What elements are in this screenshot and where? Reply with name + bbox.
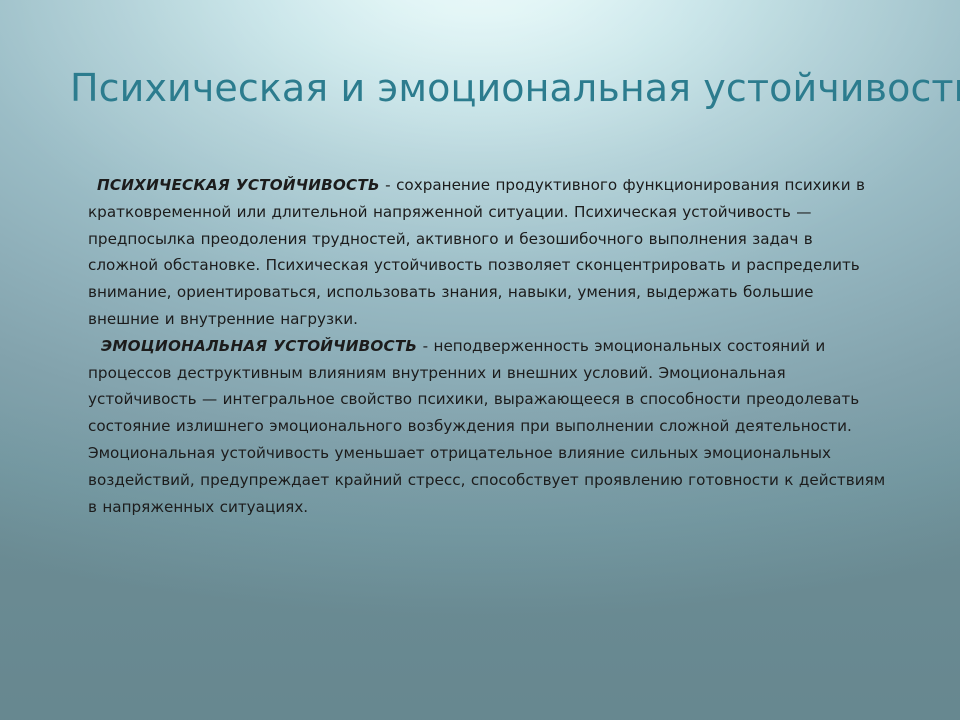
- paragraph-mental-stability: ПСИХИЧЕСКАЯ УСТОЙЧИВОСТЬ - сохранение пр…: [88, 172, 888, 333]
- definition-mental-stability: - сохранение продуктивного функционирова…: [88, 176, 865, 328]
- paragraph-emotional-stability: ЭМОЦИОНАЛЬНАЯ УСТОЙЧИВОСТЬ - неподвержен…: [88, 333, 888, 521]
- presentation-slide: Психическая и эмоциональная устойчивость…: [0, 0, 960, 720]
- term-emotional-stability: ЭМОЦИОНАЛЬНАЯ УСТОЙЧИВОСТЬ: [101, 337, 417, 355]
- slide-body: ПСИХИЧЕСКАЯ УСТОЙЧИВОСТЬ - сохранение пр…: [88, 172, 888, 520]
- page-title: Психическая и эмоциональная устойчивость: [70, 64, 910, 112]
- term-mental-stability: ПСИХИЧЕСКАЯ УСТОЙЧИВОСТЬ: [97, 176, 380, 194]
- definition-emotional-stability: - неподверженность эмоциональных состоян…: [88, 337, 885, 516]
